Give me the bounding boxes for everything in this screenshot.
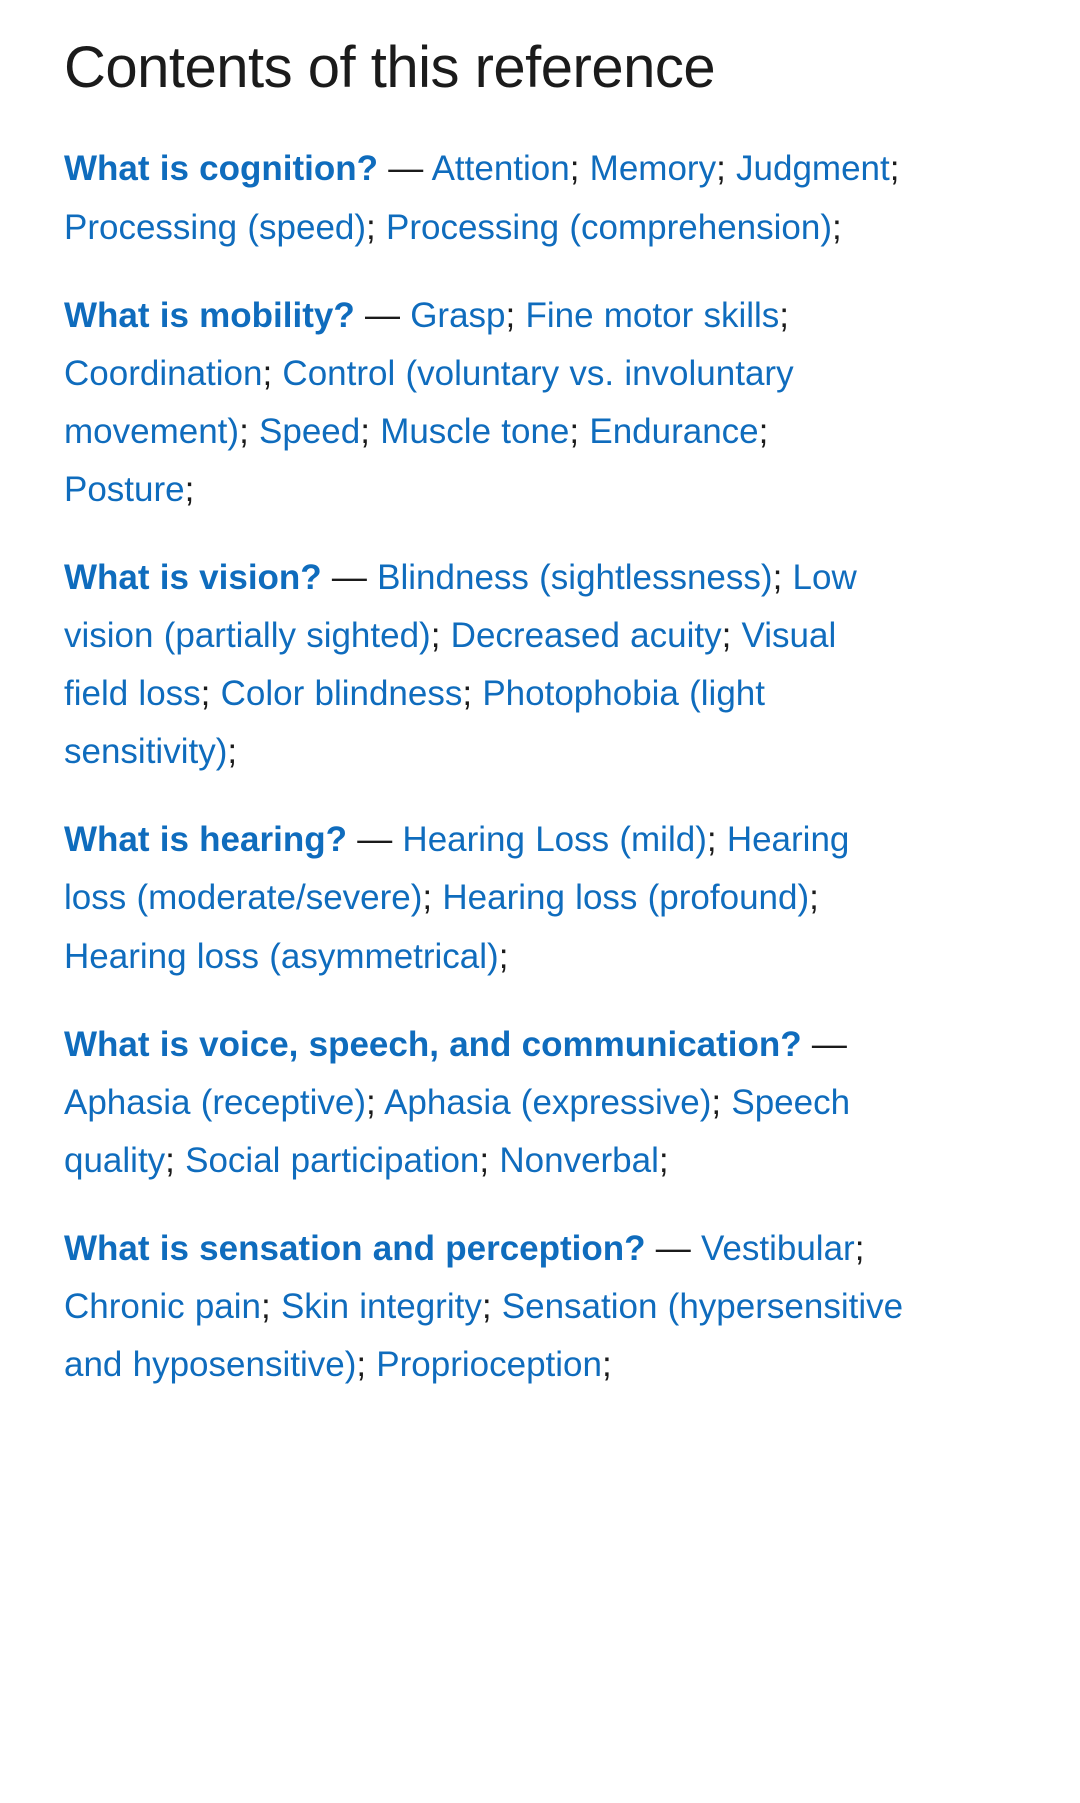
table-of-contents: What is cognition? — Attention; Memory; … — [64, 140, 1024, 1394]
toc-item-link[interactable]: Color blindness — [221, 674, 463, 713]
semicolon-separator: ; — [356, 1345, 376, 1384]
toc-section-heading-link[interactable]: What is mobility? — [64, 296, 355, 335]
toc-item-link[interactable]: Processing (comprehension) — [386, 208, 832, 247]
semicolon-separator: ; — [462, 674, 482, 713]
toc-item-link[interactable]: Proprioception — [376, 1345, 602, 1384]
semicolon-separator: ; — [832, 208, 842, 247]
toc-item-link[interactable]: Memory — [590, 149, 716, 188]
semicolon-separator: ; — [499, 937, 509, 976]
semicolon-separator: ; — [773, 558, 793, 597]
em-dash-separator: — — [378, 149, 432, 188]
semicolon-separator: ; — [809, 878, 819, 917]
semicolon-separator: ; — [431, 616, 451, 655]
semicolon-separator: ; — [201, 674, 221, 713]
toc-section: What is voice, speech, and communication… — [64, 1016, 904, 1190]
semicolon-separator: ; — [716, 149, 736, 188]
em-dash-separator: — — [646, 1229, 701, 1268]
toc-item-link[interactable]: Hearing Loss (mild) — [402, 820, 706, 859]
em-dash-separator: — — [802, 1025, 847, 1064]
toc-item-link[interactable]: Blindness (sightlessness) — [377, 558, 772, 597]
semicolon-separator: ; — [659, 1141, 669, 1180]
toc-item-link[interactable]: Coordination — [64, 354, 262, 393]
toc-section: What is vision? — Blindness (sightlessne… — [64, 549, 904, 781]
toc-item-link[interactable]: Speed — [259, 412, 360, 451]
toc-item-link[interactable]: Fine motor skills — [525, 296, 779, 335]
page-title: Contents of this reference — [64, 34, 1024, 102]
em-dash-separator: — — [347, 820, 402, 859]
toc-item-link[interactable]: Decreased acuity — [451, 616, 722, 655]
semicolon-separator: ; — [506, 296, 526, 335]
semicolon-separator: ; — [185, 470, 195, 509]
semicolon-separator: ; — [165, 1141, 185, 1180]
semicolon-separator: ; — [890, 149, 900, 188]
toc-section-heading-link[interactable]: What is voice, speech, and communication… — [64, 1025, 802, 1064]
semicolon-separator: ; — [722, 616, 742, 655]
toc-section-heading-link[interactable]: What is vision? — [64, 558, 322, 597]
semicolon-separator: ; — [711, 1083, 731, 1122]
toc-item-link[interactable]: Processing (speed) — [64, 208, 366, 247]
toc-section: What is sensation and perception? — Vest… — [64, 1220, 904, 1394]
semicolon-separator: ; — [759, 412, 769, 451]
semicolon-separator: ; — [855, 1229, 865, 1268]
semicolon-separator: ; — [602, 1345, 612, 1384]
semicolon-separator: ; — [569, 412, 589, 451]
toc-section-heading-link[interactable]: What is sensation and perception? — [64, 1229, 646, 1268]
toc-item-link[interactable]: Attention — [432, 149, 570, 188]
semicolon-separator: ; — [227, 732, 237, 771]
toc-item-link[interactable]: Aphasia (receptive) — [64, 1083, 366, 1122]
semicolon-separator: ; — [479, 1141, 499, 1180]
toc-section: What is hearing? — Hearing Loss (mild); … — [64, 811, 904, 985]
semicolon-separator: ; — [366, 208, 386, 247]
semicolon-separator: ; — [262, 354, 282, 393]
semicolon-separator: ; — [779, 296, 789, 335]
toc-item-link[interactable]: Hearing loss (asymmetrical) — [64, 937, 499, 976]
semicolon-separator: ; — [366, 1083, 384, 1122]
semicolon-separator: ; — [570, 149, 590, 188]
toc-item-link[interactable]: Grasp — [410, 296, 505, 335]
toc-section-heading-link[interactable]: What is hearing? — [64, 820, 347, 859]
em-dash-separator: — — [322, 558, 377, 597]
semicolon-separator: ; — [482, 1287, 502, 1326]
em-dash-separator: — — [355, 296, 410, 335]
toc-section-heading-link[interactable]: What is cognition? — [64, 149, 378, 188]
toc-item-link[interactable]: Muscle tone — [380, 412, 569, 451]
semicolon-separator: ; — [261, 1287, 281, 1326]
toc-item-link[interactable]: Nonverbal — [499, 1141, 659, 1180]
toc-item-link[interactable]: Hearing loss (profound) — [442, 878, 809, 917]
reference-contents-page: Contents of this reference What is cogni… — [0, 0, 1080, 1434]
semicolon-separator: ; — [360, 412, 380, 451]
toc-item-link[interactable]: Social participation — [185, 1141, 479, 1180]
semicolon-separator: ; — [707, 820, 727, 859]
toc-item-link[interactable]: Aphasia (expressive) — [384, 1083, 711, 1122]
semicolon-separator: ; — [239, 412, 259, 451]
toc-item-link[interactable]: Judgment — [736, 149, 890, 188]
toc-item-link[interactable]: Endurance — [589, 412, 758, 451]
toc-item-link[interactable]: Posture — [64, 470, 185, 509]
toc-item-link[interactable]: Vestibular — [701, 1229, 855, 1268]
toc-section: What is cognition? — Attention; Memory; … — [64, 140, 904, 256]
semicolon-separator: ; — [422, 878, 442, 917]
toc-item-link[interactable]: Chronic pain — [64, 1287, 261, 1326]
toc-item-link[interactable]: Skin integrity — [281, 1287, 482, 1326]
toc-section: What is mobility? — Grasp; Fine motor sk… — [64, 287, 904, 519]
